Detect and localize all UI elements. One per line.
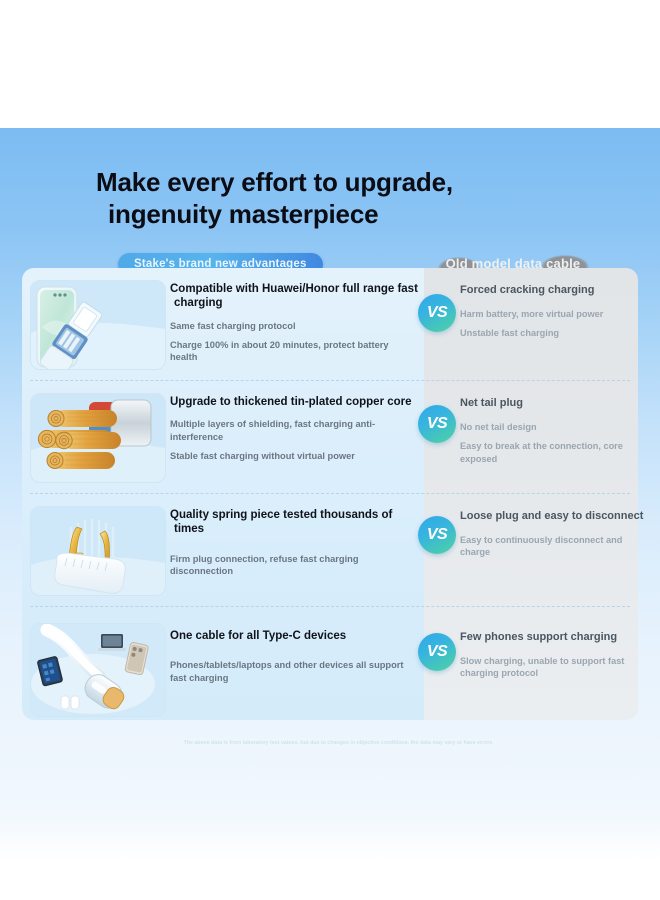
row-old-text: Forced cracking charging Harm battery, m… <box>460 284 650 340</box>
product-comparison-poster: Make every effort to upgrade, ingenuity … <box>0 0 660 900</box>
spring-piece-connector-image <box>30 506 166 596</box>
old-model-label: Old model data cable <box>437 257 589 272</box>
row-old-sub2: Unstable fast charging <box>460 327 650 339</box>
comparison-table: Compatible with Huawei/Honor full range … <box>22 268 638 720</box>
row-old-sub1: Slow charging, unable to support fast ch… <box>460 655 650 680</box>
row-old-sub1: Easy to continuously disconnect and char… <box>460 534 650 559</box>
disclaimer-text: The above data is from laboratory test v… <box>148 740 528 747</box>
row-old-title: Few phones support charging <box>460 631 650 645</box>
table-row: Upgrade to thickened tin-plated copper c… <box>22 381 638 494</box>
row-old-title: Loose plug and easy to disconnect <box>460 510 650 524</box>
vs-badge: VS <box>418 405 456 443</box>
row-new-text: Compatible with Huawei/Honor full range … <box>170 282 418 364</box>
phone-with-usb-c-connector-image <box>30 280 166 370</box>
row-new-sub2: Charge 100% in about 20 minutes, protect… <box>170 339 418 364</box>
row-old-sub1: No net tail design <box>460 421 650 433</box>
row-new-text: Quality spring piece tested thousands of… <box>170 508 418 577</box>
vs-badge: VS <box>418 294 456 332</box>
row-new-title: Upgrade to thickened tin-plated copper c… <box>170 395 418 409</box>
row-new-sub1: Phones/tablets/laptops and other devices… <box>170 659 418 684</box>
row-new-title: Compatible with Huawei/Honor full range … <box>170 282 418 311</box>
headline-line-1: Make every effort to upgrade, <box>96 167 453 197</box>
page-title: Make every effort to upgrade, ingenuity … <box>96 166 616 230</box>
vs-badge: VS <box>418 516 456 554</box>
row-old-sub1: Harm battery, more virtual power <box>460 308 650 320</box>
table-row: Quality spring piece tested thousands of… <box>22 494 638 607</box>
row-old-text: Few phones support charging Slow chargin… <box>460 631 650 680</box>
usb-c-cable-multi-device-image <box>30 623 166 717</box>
tin-plated-copper-core-image <box>30 393 166 483</box>
row-old-text: Loose plug and easy to disconnect Easy t… <box>460 510 650 559</box>
row-new-text: Upgrade to thickened tin-plated copper c… <box>170 395 418 462</box>
headline-line-2: ingenuity masterpiece <box>96 198 616 230</box>
row-new-text: One cable for all Type-C devices Phones/… <box>170 629 418 684</box>
row-old-title: Net tail plug <box>460 397 650 411</box>
row-new-title: Quality spring piece tested thousands of… <box>170 508 418 537</box>
row-new-sub1: Firm plug connection, refuse fast chargi… <box>170 553 418 578</box>
table-row: Compatible with Huawei/Honor full range … <box>22 268 638 381</box>
table-row: One cable for all Type-C devices Phones/… <box>22 607 638 720</box>
row-new-sub1: Multiple layers of shielding, fast charg… <box>170 418 418 443</box>
row-new-sub1: Same fast charging protocol <box>170 320 418 332</box>
row-old-text: Net tail plug No net tail design Easy to… <box>460 397 650 465</box>
row-old-sub2: Easy to break at the connection, core ex… <box>460 440 650 465</box>
row-new-title: One cable for all Type-C devices <box>170 629 418 643</box>
row-new-sub2: Stable fast charging without virtual pow… <box>170 450 418 462</box>
row-old-title: Forced cracking charging <box>460 284 650 298</box>
vs-badge: VS <box>418 633 456 671</box>
old-model-label-text: Old model data cable <box>446 256 581 271</box>
